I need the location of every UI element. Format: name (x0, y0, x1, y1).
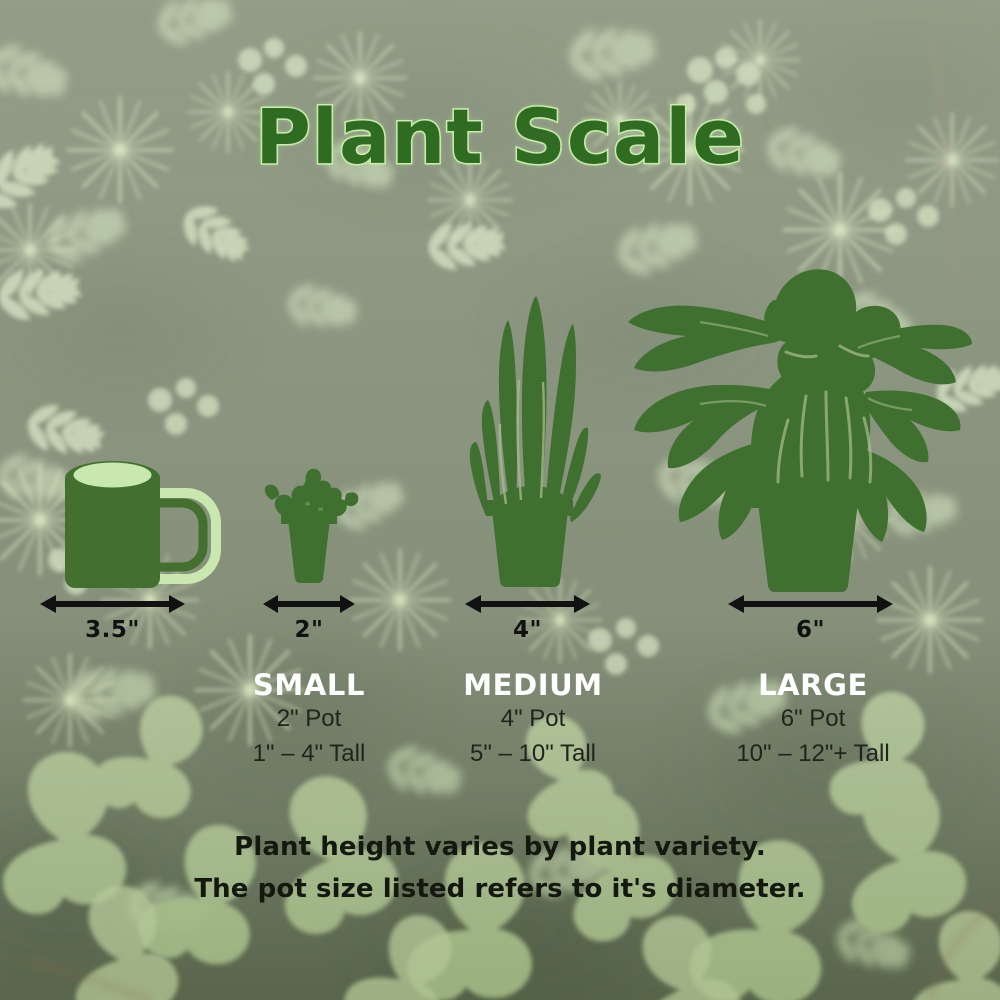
double-arrow-icon (40, 593, 185, 615)
measure-medium-label: 4" (465, 617, 590, 643)
category-medium-height: 5" – 10" Tall (413, 739, 653, 770)
measure-medium: 4" (465, 593, 590, 643)
double-arrow-icon (263, 593, 355, 615)
category-large-title: LARGE (693, 670, 933, 700)
category-medium: MEDIUM 4" Pot 5" – 10" Tall (413, 670, 653, 770)
measure-large: 6" (728, 593, 893, 643)
category-large: LARGE 6" Pot 10" – 12"+ Tall (693, 670, 933, 770)
measure-large-label: 6" (728, 617, 893, 643)
footer-line-1: Plant height varies by plant variety. (0, 826, 1000, 868)
category-small-title: SMALL (189, 670, 429, 700)
plant-scale-infographic: Plant Scale (0, 0, 1000, 1000)
category-large-height: 10" – 12"+ Tall (693, 739, 933, 770)
footer-line-2: The pot size listed refers to it's diame… (0, 868, 1000, 910)
measure-small: 2" (263, 593, 355, 643)
measure-mug-label: 3.5" (40, 617, 185, 643)
category-small: SMALL 2" Pot 1" – 4" Tall (189, 670, 429, 770)
category-small-pot: 2" Pot (189, 704, 429, 735)
double-arrow-icon (728, 593, 893, 615)
category-large-pot: 6" Pot (693, 704, 933, 735)
category-medium-title: MEDIUM (413, 670, 653, 700)
page-title: Plant Scale (0, 92, 1000, 181)
footer-note: Plant height varies by plant variety. Th… (0, 826, 1000, 910)
measure-mug: 3.5" (40, 593, 185, 643)
category-medium-pot: 4" Pot (413, 704, 653, 735)
double-arrow-icon (465, 593, 590, 615)
measure-small-label: 2" (263, 617, 355, 643)
category-small-height: 1" – 4" Tall (189, 739, 429, 770)
